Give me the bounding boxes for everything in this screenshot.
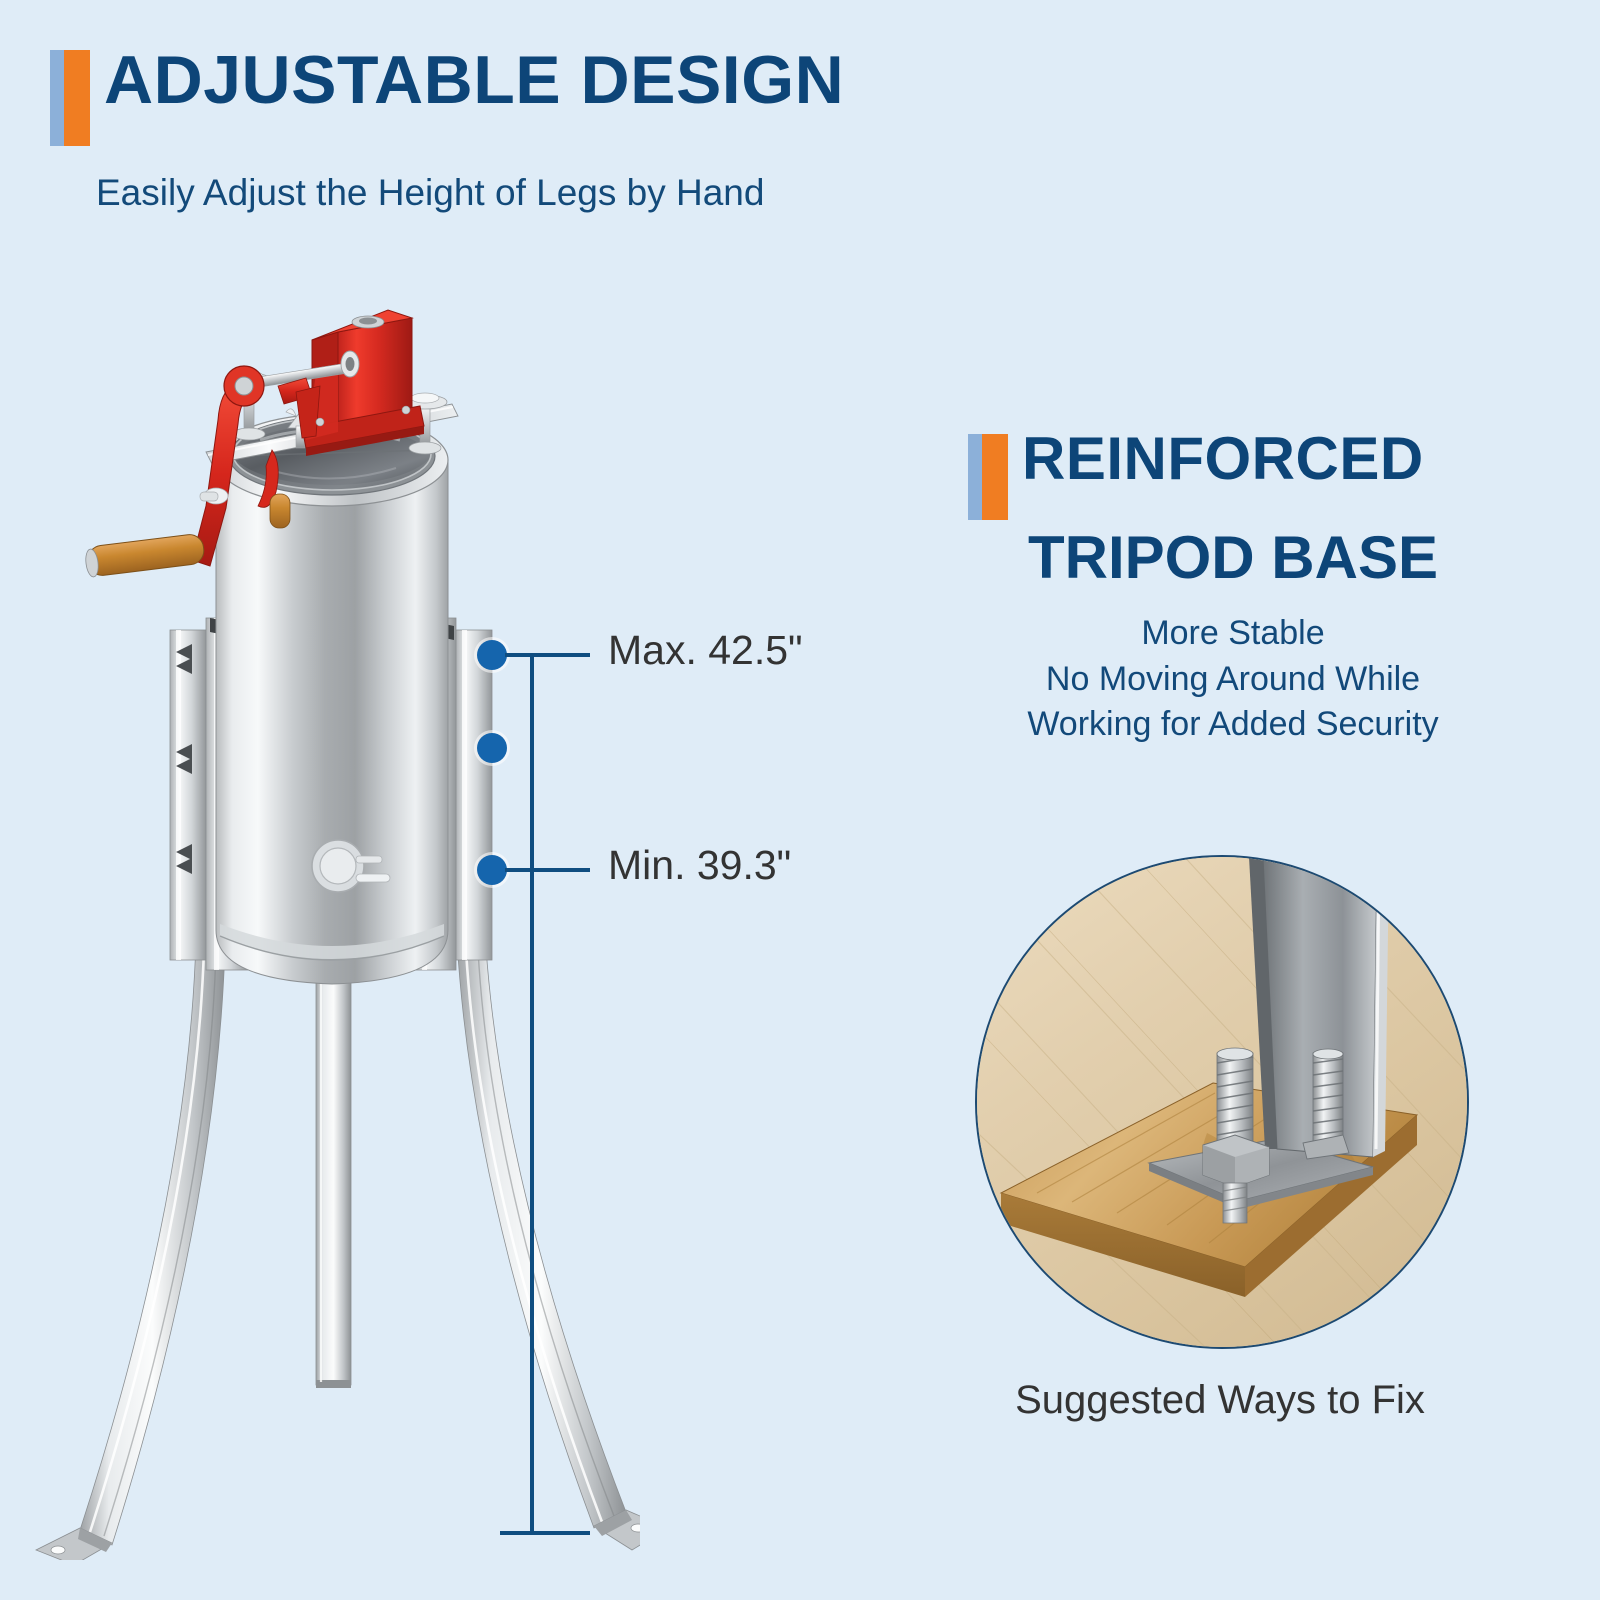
tripod-leg-right xyxy=(457,940,640,1550)
accent-bar-orange xyxy=(64,50,90,146)
leader-line-min xyxy=(505,868,590,872)
right-heading-block: REINFORCED TRIPOD BASE More Stable No Mo… xyxy=(968,430,1498,748)
accent-bar-blue xyxy=(50,50,64,146)
right-title-line2: TRIPOD BASE xyxy=(968,526,1498,589)
extractor-drum xyxy=(216,460,448,984)
infographic-canvas: ADJUSTABLE DESIGN Easily Adjust the Heig… xyxy=(0,0,1600,1600)
accent-bar-right xyxy=(968,434,1008,520)
tripod-leg-left xyxy=(36,940,225,1560)
accent-bar-orange-right xyxy=(982,434,1008,520)
inset-photo-leg-fix xyxy=(975,855,1469,1349)
accent-bar-left xyxy=(50,50,90,146)
left-heading-block: ADJUSTABLE DESIGN Easily Adjust the Heig… xyxy=(50,48,844,214)
inset-illustration xyxy=(977,857,1467,1347)
right-body-line1: More Stable xyxy=(968,611,1498,657)
honey-extractor-illustration xyxy=(20,300,640,1560)
dimension-tick-bottom xyxy=(500,1531,590,1535)
callout-dot-max xyxy=(477,640,507,670)
inset-caption: Suggested Ways to Fix xyxy=(975,1378,1465,1423)
left-subtitle: Easily Adjust the Height of Legs by Hand xyxy=(96,172,844,214)
left-title: ADJUSTABLE DESIGN xyxy=(104,48,844,146)
callout-dot-min xyxy=(477,855,507,885)
right-title-line1: REINFORCED xyxy=(1022,430,1424,520)
callout-dot-middle xyxy=(477,733,507,763)
crank-wood-grip xyxy=(84,533,205,578)
callout-label-min: Min. 39.3" xyxy=(608,842,791,889)
callout-label-max: Max. 42.5" xyxy=(608,627,803,674)
leader-line-max xyxy=(505,653,590,657)
dimension-line-vertical xyxy=(530,653,534,1533)
right-body-line3: Working for Added Security xyxy=(968,702,1498,748)
tripod-leg-center xyxy=(316,960,351,1388)
accent-bar-blue-right xyxy=(968,434,982,520)
right-body-line2: No Moving Around While xyxy=(968,657,1498,703)
